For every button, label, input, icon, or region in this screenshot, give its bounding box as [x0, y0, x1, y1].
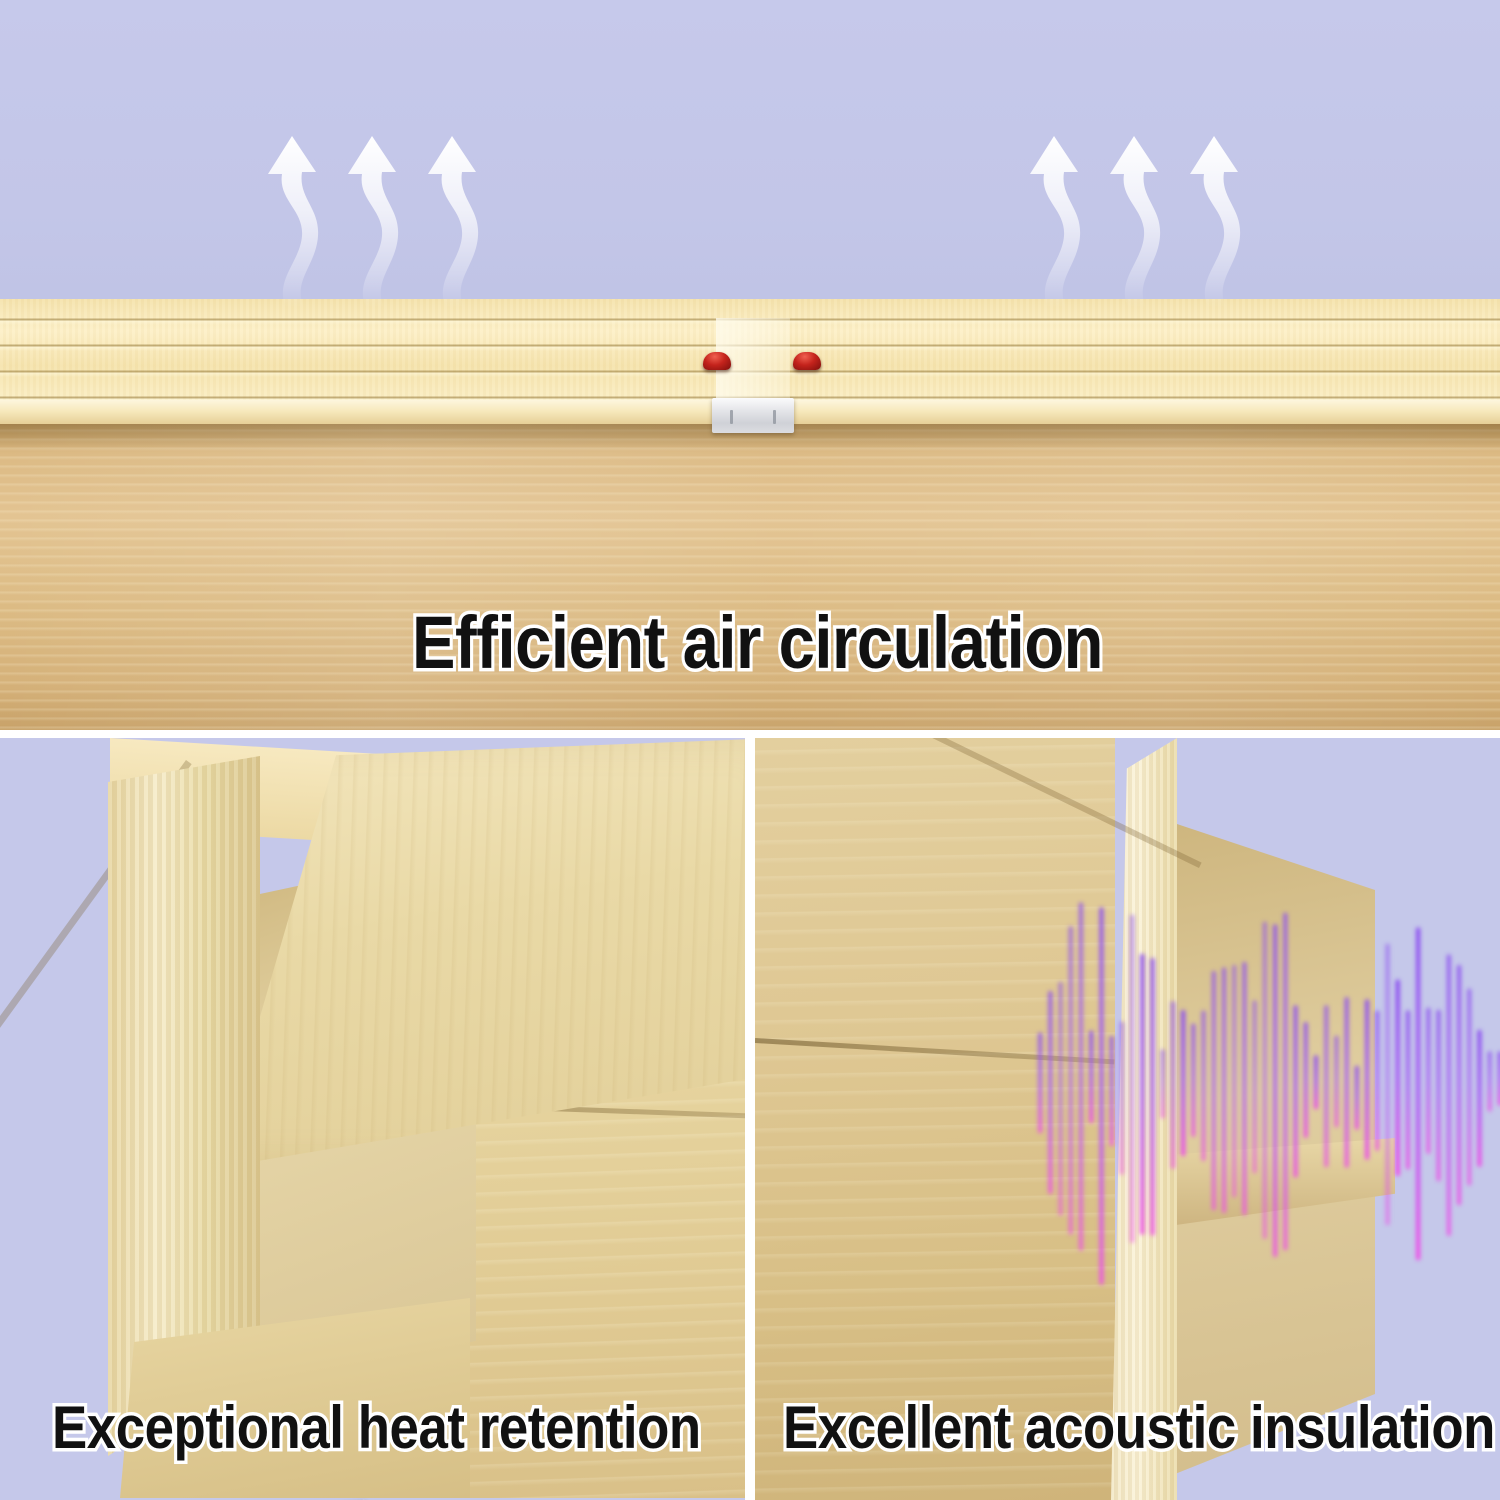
sound-wave-bar [1242, 962, 1246, 1215]
infographic-board: Efficient air circulation Exceptional he… [0, 0, 1500, 1500]
sound-wave-bar [1273, 924, 1277, 1257]
sound-wave-bar [1110, 1036, 1114, 1146]
sound-wave-bar [1038, 1032, 1042, 1133]
heat-arrow-icon [268, 136, 318, 308]
sound-wave-bar [1222, 967, 1226, 1213]
sound-wave-bar [1120, 1022, 1124, 1175]
sound-wave-bar [1069, 926, 1073, 1235]
sound-wave-bar [1324, 1005, 1328, 1167]
heat-arrow-group-right [1020, 112, 1290, 312]
sound-wave-bar [1488, 1051, 1492, 1111]
sound-wave-bar [1283, 913, 1287, 1251]
sound-wave-bar [1416, 927, 1420, 1260]
sound-wave-bar [1375, 1011, 1379, 1151]
heat-arrow-icon [348, 136, 398, 308]
sound-wave-bar [1467, 989, 1471, 1186]
sound-wave-bar [1293, 1005, 1297, 1177]
sound-wave-bar [1345, 997, 1349, 1168]
sound-wave-bar [1334, 1036, 1338, 1128]
panel-heat-retention [0, 738, 745, 1500]
sound-wave-bar [1253, 1000, 1257, 1173]
sound-wave-bar [1130, 915, 1134, 1243]
sound-wave-bar [1201, 1011, 1205, 1162]
heat-arrow-group-left [258, 112, 528, 312]
sound-wave-bar [1385, 944, 1389, 1226]
rubber-bumper-pad-right [793, 352, 821, 370]
sound-wave-bar [1161, 1049, 1165, 1118]
sound-wave-bars [1035, 888, 1500, 1288]
sound-wave-bar [1365, 999, 1369, 1159]
sound-wave-bar [1058, 982, 1062, 1216]
caption-acoustic-insulation: Excellent acoustic insulation [783, 1393, 1495, 1462]
sound-wave-bar [1232, 965, 1236, 1198]
sound-wave-bar [1191, 1024, 1195, 1138]
rubber-bumper-pad-left [703, 352, 731, 370]
sound-wave-bar [1355, 1066, 1359, 1130]
sound-wave-bar [1263, 922, 1267, 1239]
sound-wave-bar [1314, 1055, 1318, 1109]
sound-wave-bar [1150, 958, 1154, 1236]
caption-air-circulation: Efficient air circulation [412, 600, 1103, 685]
sound-wave-bar [1099, 907, 1103, 1284]
sound-wave-bar [1396, 980, 1400, 1177]
sound-wave-bar [1171, 1001, 1175, 1169]
caption-heat-retention: Exceptional heat retention [52, 1393, 701, 1462]
sound-wave-bar [1406, 1010, 1410, 1169]
sound-wave-bar [1447, 954, 1451, 1236]
sound-wave-bar [1089, 1030, 1093, 1123]
sound-wave-bar [1477, 1030, 1481, 1167]
sound-wave-bar [1457, 965, 1461, 1205]
sound-wave-bar [1436, 1010, 1440, 1181]
panel-acoustic-insulation [755, 738, 1500, 1500]
sound-wave-bar [1079, 902, 1083, 1250]
sound-wave-bar [1048, 991, 1052, 1194]
heat-arrow-icon [428, 136, 478, 308]
sound-wave-bar [1140, 954, 1144, 1235]
heat-arrow-icon [1030, 136, 1080, 308]
sound-wave-bar [1304, 1022, 1308, 1138]
heat-arrow-icon [1190, 136, 1240, 308]
magnetic-catch-plate [712, 398, 794, 433]
sound-wave-bar [1181, 1010, 1185, 1156]
panel-divider-vertical [745, 730, 755, 1500]
heat-arrow-icon [1110, 136, 1160, 308]
sound-wave-bar [1426, 1008, 1430, 1154]
sound-wave-bar [1212, 971, 1216, 1211]
